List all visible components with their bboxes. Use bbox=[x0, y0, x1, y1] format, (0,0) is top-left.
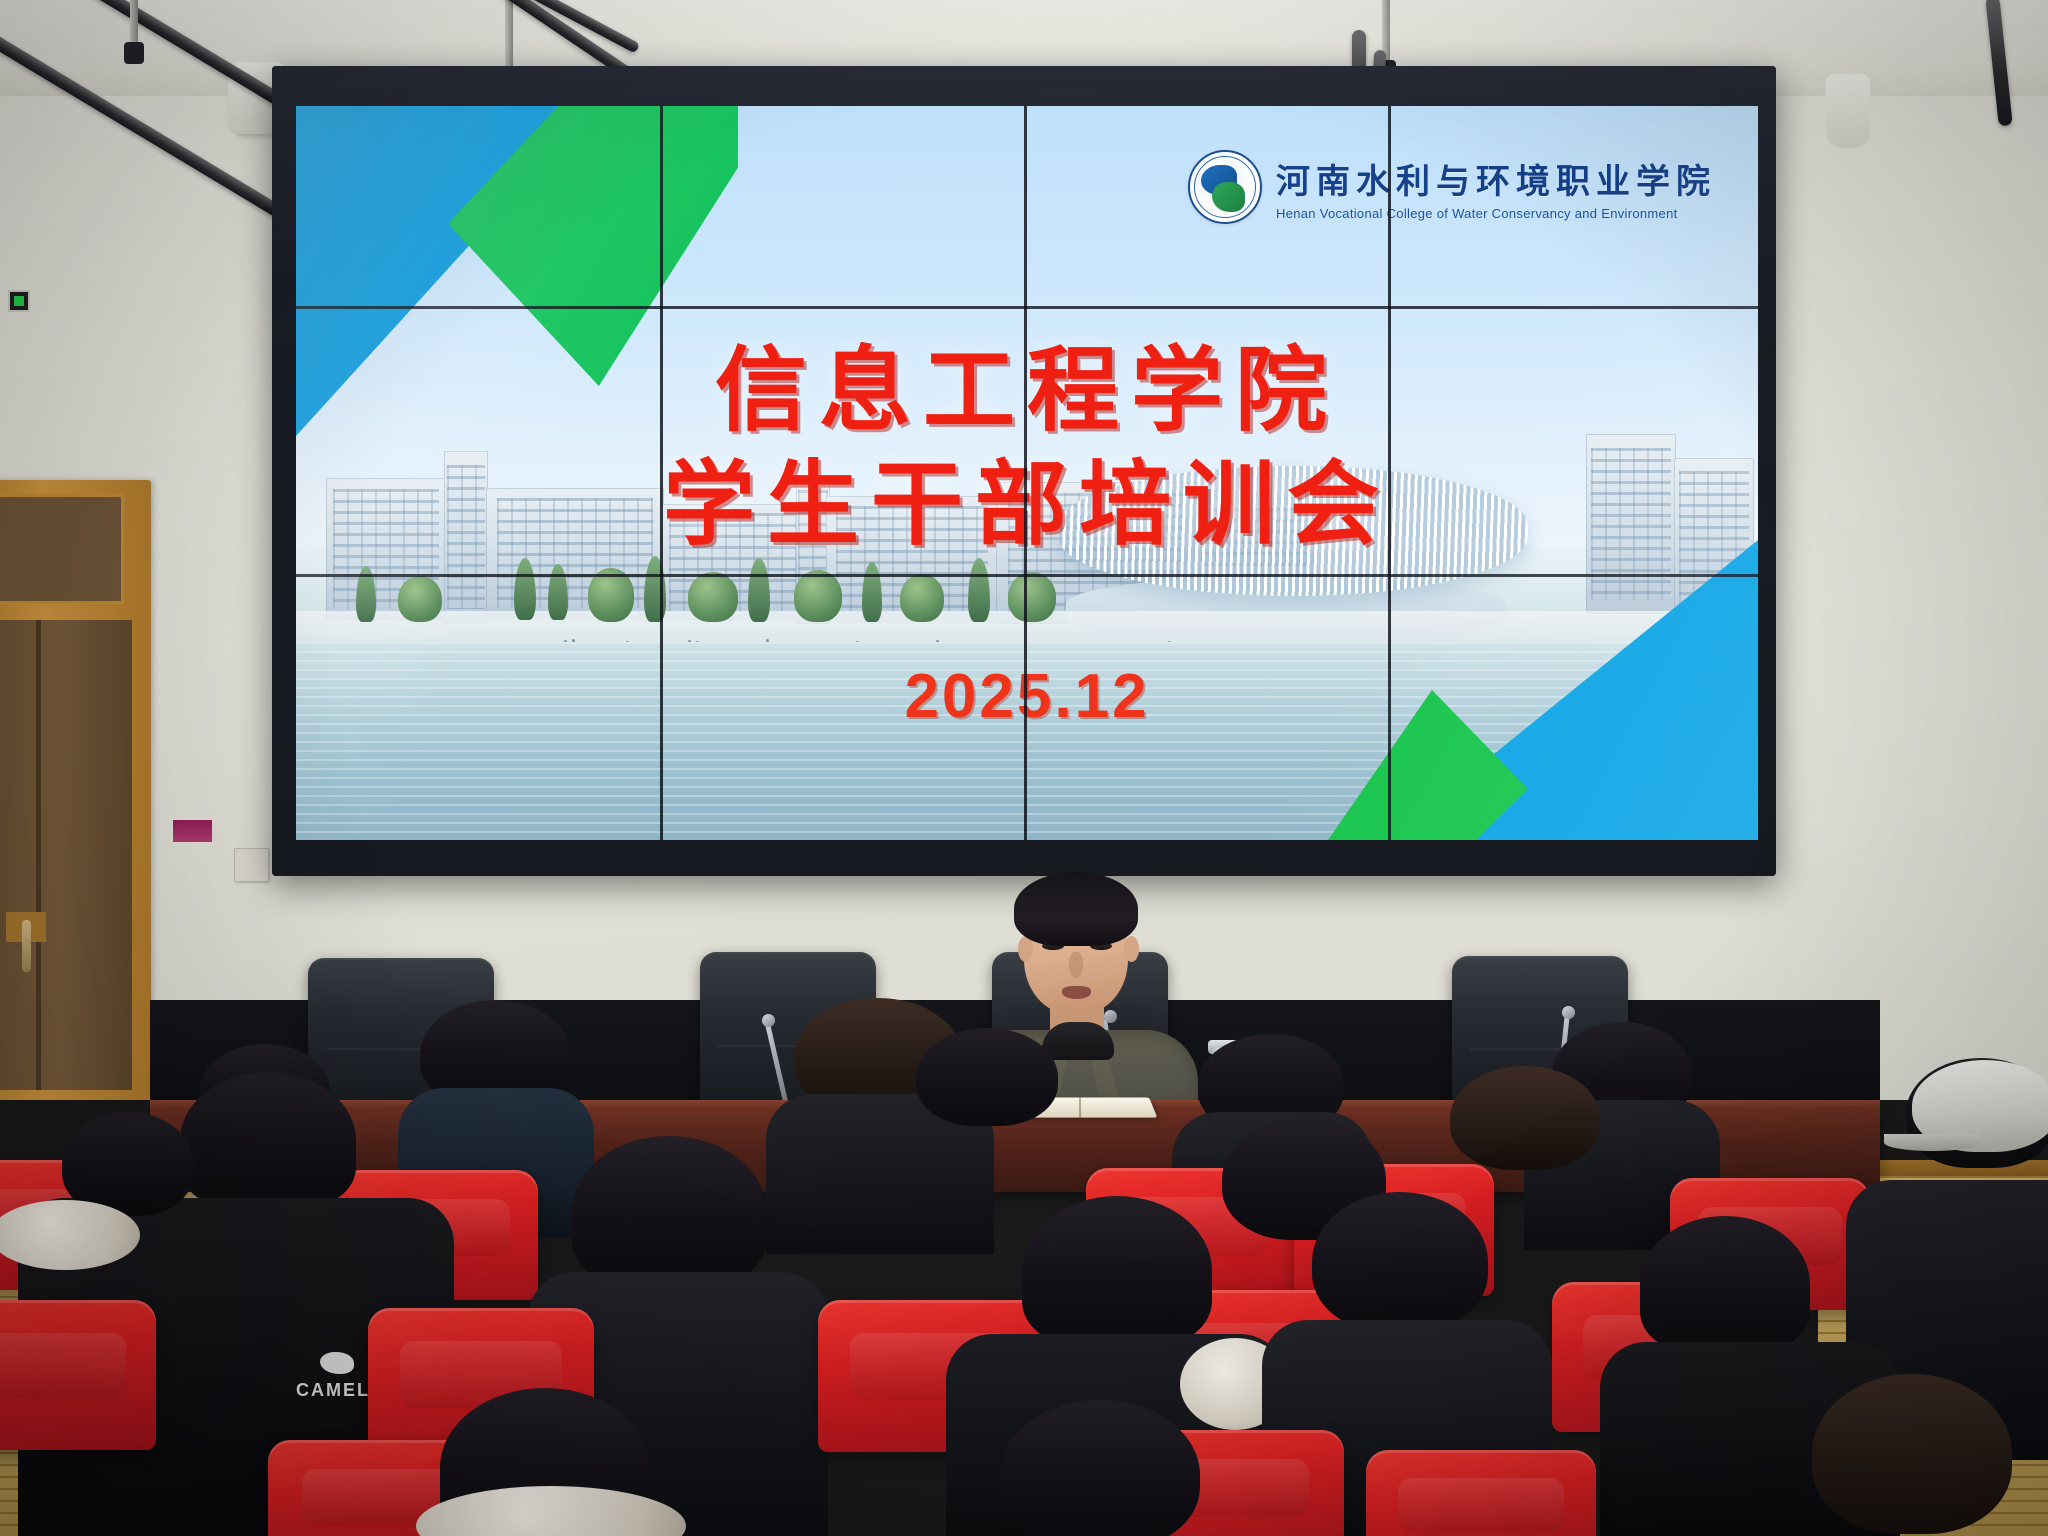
tree-5 bbox=[688, 572, 738, 622]
audience-person-m3 bbox=[572, 1136, 766, 1286]
audience-person-front2 bbox=[1000, 1400, 1200, 1536]
door-slab bbox=[0, 620, 132, 1090]
wall-speaker-right bbox=[1826, 74, 1870, 148]
slide-title-line-1: 信息工程学院 bbox=[296, 334, 1758, 448]
door-handle-icon[interactable] bbox=[22, 920, 31, 972]
door-transom bbox=[0, 494, 124, 604]
light-switch[interactable] bbox=[234, 848, 269, 882]
tree-11 bbox=[1008, 572, 1056, 622]
emergency-indicator bbox=[8, 290, 30, 312]
audience-person-f2 bbox=[1312, 1192, 1488, 1332]
hair bbox=[180, 1072, 356, 1208]
panel-seam-v2 bbox=[1024, 106, 1027, 840]
wall-sign bbox=[171, 818, 214, 844]
audience-person-f3 bbox=[1640, 1216, 1810, 1352]
audience-person-front3 bbox=[1812, 1374, 2012, 1534]
video-wall-screen[interactable]: 河南水利与环境职业学院 Henan Vocational College of … bbox=[296, 106, 1758, 840]
speaker-mouth bbox=[1062, 986, 1091, 999]
panel-seam-v3 bbox=[1388, 106, 1391, 840]
hair bbox=[1312, 1192, 1488, 1332]
mic-left-head bbox=[762, 1014, 775, 1027]
audience-person-m1 bbox=[180, 1072, 356, 1208]
slide-title-line-2: 学生干部培训会 bbox=[296, 448, 1758, 562]
camel-brand-text: CAMEL bbox=[296, 1380, 370, 1401]
panel-seam-v1 bbox=[660, 106, 663, 840]
slide-date: 2025.12 bbox=[296, 661, 1758, 732]
speaker-nose bbox=[1069, 952, 1083, 978]
emblem-ring bbox=[1194, 156, 1256, 218]
panel-seam-h2 bbox=[296, 574, 1758, 577]
hair bbox=[1000, 1400, 1200, 1536]
panel-seam-h1 bbox=[296, 306, 1758, 309]
baseball-cap-brim bbox=[1884, 1134, 1980, 1151]
hair bbox=[1450, 1066, 1600, 1170]
college-emblem-icon bbox=[1188, 150, 1262, 224]
side-door[interactable] bbox=[0, 480, 151, 1100]
college-logo-text: 河南水利与环境职业学院 Henan Vocational College of … bbox=[1276, 154, 1716, 221]
hair bbox=[572, 1136, 766, 1286]
college-name-en: Henan Vocational College of Water Conser… bbox=[1276, 206, 1716, 221]
hair bbox=[1812, 1374, 2012, 1534]
slide-title: 信息工程学院 学生干部培训会 bbox=[296, 334, 1758, 562]
audience-seat-r2c1[interactable] bbox=[0, 1300, 156, 1450]
hair bbox=[916, 1028, 1058, 1126]
speaker-hair bbox=[1014, 872, 1138, 946]
hair bbox=[1640, 1216, 1810, 1352]
tree-9 bbox=[900, 574, 944, 622]
door-seam bbox=[36, 620, 41, 1090]
audience-person-b6 bbox=[1450, 1066, 1600, 1170]
truss-clamp-1 bbox=[124, 42, 144, 64]
led-video-wall[interactable]: 河南水利与环境职业学院 Henan Vocational College of … bbox=[272, 66, 1776, 876]
mic-right-head bbox=[1562, 1006, 1575, 1019]
audience-person-f1 bbox=[1022, 1196, 1212, 1346]
audience-person-b3 bbox=[916, 1028, 1058, 1126]
audience-seat-r1c3[interactable] bbox=[1366, 1450, 1596, 1536]
college-logo: 河南水利与环境职业学院 Henan Vocational College of … bbox=[1188, 150, 1716, 224]
tree-7 bbox=[794, 570, 842, 622]
speaker-ear-right bbox=[1124, 936, 1139, 962]
tree-13 bbox=[398, 576, 442, 622]
college-name-cn: 河南水利与环境职业学院 bbox=[1276, 154, 1716, 203]
conference-hall-photo: 河南水利与环境职业学院 Henan Vocational College of … bbox=[0, 0, 2048, 1536]
hair bbox=[1022, 1196, 1212, 1346]
